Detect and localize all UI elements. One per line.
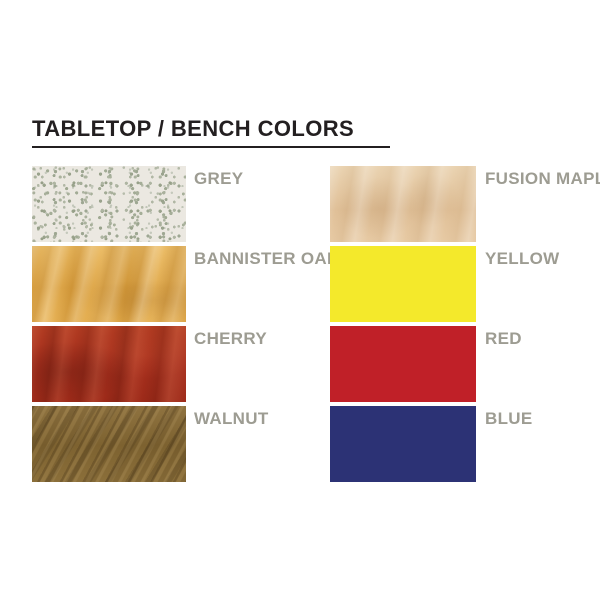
swatch-color-grey[interactable] bbox=[32, 166, 186, 242]
swatch-color-walnut[interactable] bbox=[32, 406, 186, 482]
swatch-item-fusion-maple[interactable]: FUSION MAPLE bbox=[330, 166, 580, 244]
swatch-fill-blue bbox=[330, 406, 476, 482]
title-underline-rule bbox=[32, 146, 390, 148]
swatch-item-blue[interactable]: BLUE bbox=[330, 406, 580, 484]
right-column: FUSION MAPLE YELLOW RED BLUE bbox=[330, 166, 580, 486]
page-title-block: TABLETOP / BENCH COLORS bbox=[32, 116, 392, 148]
swatch-label-yellow: YELLOW bbox=[485, 248, 600, 269]
swatch-color-blue[interactable] bbox=[330, 406, 476, 482]
swatch-color-fusion-maple[interactable] bbox=[330, 166, 476, 242]
page-title: TABLETOP / BENCH COLORS bbox=[32, 116, 392, 142]
swatch-color-yellow[interactable] bbox=[330, 246, 476, 322]
swatch-label-fusion-maple: FUSION MAPLE bbox=[485, 168, 600, 189]
swatch-label-red: RED bbox=[485, 328, 600, 349]
swatch-fill-yellow bbox=[330, 246, 476, 322]
swatch-color-cherry[interactable] bbox=[32, 326, 186, 402]
left-column: GREY BANNISTER OAK CHERRY WALNUT bbox=[32, 166, 292, 486]
swatch-item-red[interactable]: RED bbox=[330, 326, 580, 404]
swatch-fill-red bbox=[330, 326, 476, 402]
swatch-label-walnut: WALNUT bbox=[194, 408, 344, 429]
swatch-item-cherry[interactable]: CHERRY bbox=[32, 326, 292, 404]
swatch-label-bannister-oak: BANNISTER OAK bbox=[194, 248, 344, 269]
swatch-color-bannister-oak[interactable] bbox=[32, 246, 186, 322]
swatch-label-blue: BLUE bbox=[485, 408, 600, 429]
swatch-label-cherry: CHERRY bbox=[194, 328, 344, 349]
swatch-color-red[interactable] bbox=[330, 326, 476, 402]
swatch-item-yellow[interactable]: YELLOW bbox=[330, 246, 580, 324]
swatch-item-bannister-oak[interactable]: BANNISTER OAK bbox=[32, 246, 292, 324]
swatch-label-grey: GREY bbox=[194, 168, 344, 189]
swatch-item-walnut[interactable]: WALNUT bbox=[32, 406, 292, 484]
swatch-item-grey[interactable]: GREY bbox=[32, 166, 292, 244]
color-chart-page: TABLETOP / BENCH COLORS GREY BANNISTER O… bbox=[0, 0, 600, 600]
